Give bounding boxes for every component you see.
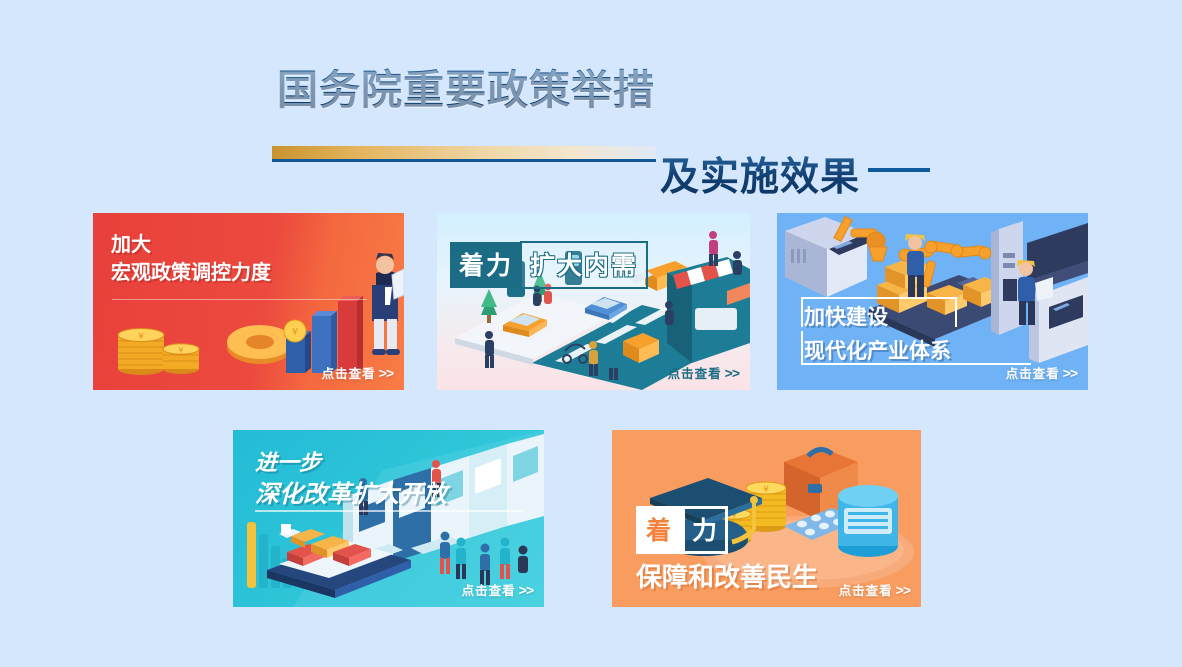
card-livelihood-headline-tag-row: 着力 [636,506,818,554]
title-gold-bar [272,146,656,159]
page-title-line-2: 及实施效果 [660,146,860,202]
card-livelihood-headline-tag-b: 力 [682,506,728,554]
card-domestic-demand[interactable]: 着力扩大内需 点击查看>> [437,213,750,390]
card-industrial-system-cta-label: 点击查看 [1006,367,1060,381]
svg-text:¥: ¥ [292,327,298,338]
card-livelihood-headline-rest: 保障和改善民生 [636,560,818,594]
svg-text:¥: ¥ [178,346,183,355]
card-reform-opening[interactable]: 进一步 深化改革扩大开放 点击查看>> [233,430,544,607]
card-macro-policy-headline: 加大 宏观政策调控力度 [111,231,271,287]
card-industrial-system[interactable]: 加快建设 现代化产业体系 点击查看>> [777,213,1088,390]
card-macro-policy-headline-line-2: 宏观政策调控力度 [111,259,271,287]
card-domestic-demand-cta-arrow-icon: >> [725,365,739,381]
card-industrial-system-cta-arrow-icon: >> [1063,365,1077,381]
card-domestic-demand-cta-label: 点击查看 [668,367,722,381]
card-reform-opening-headline: 进一步 深化改革扩大开放 [255,448,447,512]
card-reform-opening-cta-arrow-icon: >> [519,582,533,598]
card-industrial-system-headline: 加快建设 现代化产业体系 [804,301,951,369]
card-reform-opening-cta-label: 点击查看 [462,584,516,598]
card-macro-policy-headline-line-1: 加大 [111,231,271,259]
card-livelihood-headline: 着力 保障和改善民生 [636,506,818,594]
svg-text:¥: ¥ [763,485,769,495]
card-macro-policy-cta-arrow-icon: >> [379,365,393,381]
card-macro-policy[interactable]: ¥ ¥ [93,213,404,390]
card-livelihood-cta[interactable]: 点击查看>> [839,580,910,599]
card-industrial-system-bracket-right-top [955,297,957,327]
card-livelihood-cta-arrow-icon: >> [896,582,910,598]
card-macro-policy-cta[interactable]: 点击查看>> [322,363,393,382]
card-industrial-system-cta[interactable]: 点击查看>> [1006,363,1077,382]
card-domestic-demand-headline-rest: 扩大内需 [520,241,648,289]
page-title-block: 国务院重要政策举措 及实施效果 [0,48,1182,158]
card-industrial-system-bracket-left-top [801,297,803,327]
card-industrial-system-bracket-left-bottom [801,331,803,365]
title-trailing-dash [868,168,930,172]
card-domestic-demand-cta[interactable]: 点击查看>> [668,363,739,382]
card-industrial-system-headline-line-1: 加快建设 [804,301,951,335]
card-macro-policy-divider [112,299,367,300]
card-industrial-system-bracket-bottom [801,363,1031,365]
page-title-line-1: 国务院重要政策举措 [277,56,655,116]
card-reform-opening-headline-line-2: 深化改革扩大开放 [255,478,447,512]
svg-text:¥: ¥ [138,332,144,342]
card-domestic-demand-headline-tag: 着力 [450,242,522,288]
title-blue-rule [272,159,656,162]
card-livelihood-cta-label: 点击查看 [839,584,893,598]
card-reform-opening-cta[interactable]: 点击查看>> [462,580,533,599]
card-domestic-demand-headline: 着力扩大内需 [450,241,648,289]
card-livelihood[interactable]: ¥ ¥ [612,430,921,607]
card-reform-opening-headline-line-1: 进一步 [255,448,447,478]
card-macro-policy-cta-label: 点击查看 [322,367,376,381]
page-root: 国务院重要政策举措 及实施效果 ¥ [0,0,1182,667]
card-livelihood-headline-tag-a: 着 [636,506,682,554]
card-industrial-system-bracket-top [801,297,957,299]
